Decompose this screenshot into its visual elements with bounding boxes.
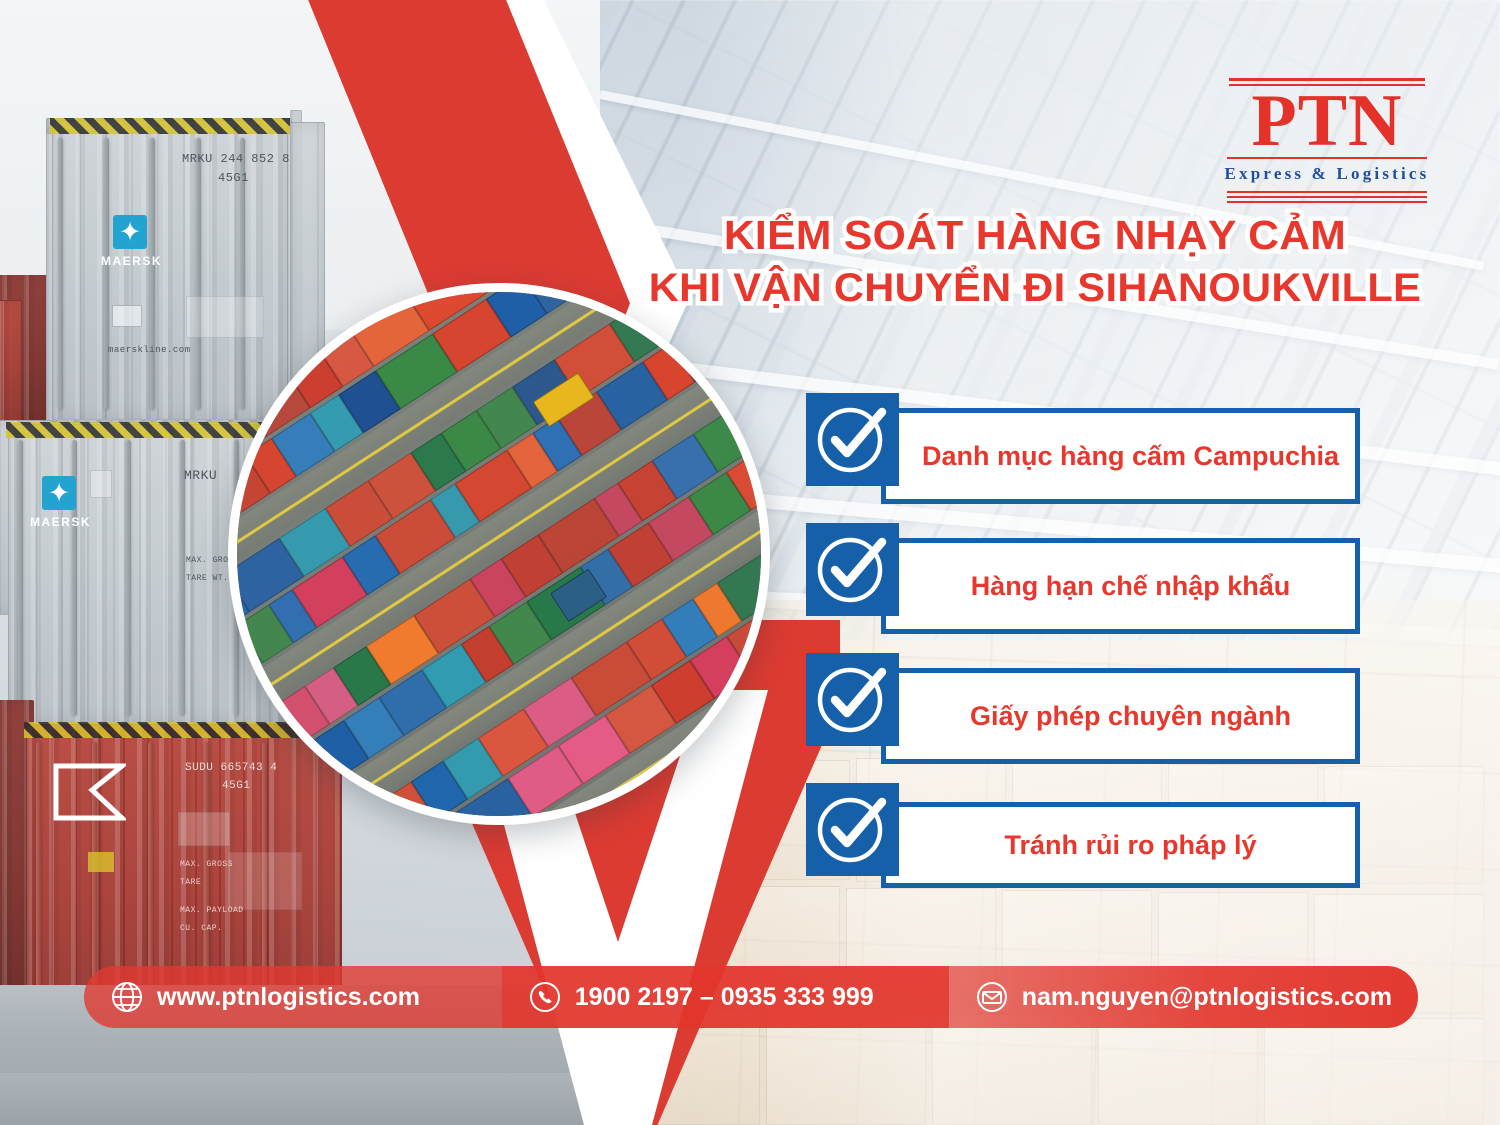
checklist-label-bar-2: Hàng hạn chế nhập khẩu [881,538,1360,634]
container-code-2: MRKU [184,468,217,483]
checklist-label-bar-1: Danh mục hàng cấm Campuchia [881,408,1360,504]
container-spec-3d: CU. CAP. [180,924,222,933]
checklist-label-1: Danh mục hàng cấm Campuchia [922,440,1339,472]
logo-tagline: Express & Logistics [1222,163,1432,186]
logo-wordmark: PTN [1222,86,1432,157]
phone-circle-icon [528,980,562,1014]
check-circle-icon [806,783,899,876]
contact-email[interactable]: nam.nguyen@ptnlogistics.com [949,966,1418,1028]
check-circle-icon [806,393,899,486]
title-line-2: KHI VẬN CHUYỂN ĐI SIHANOUKVILLE [603,262,1466,315]
checklist-label-3: Giấy phép chuyên ngành [970,700,1291,732]
container-spec-3a: MAX. GROSS [180,860,233,869]
email-text: nam.nguyen@ptnlogistics.com [1022,983,1392,1012]
contact-website[interactable]: www.ptnlogistics.com [84,966,502,1028]
container-brand-2: MAERSK [30,515,91,529]
container-spec-3b: TARE [180,878,201,887]
globe-icon [110,980,144,1014]
logo-rule-bottom-2 [1227,196,1427,198]
brand-logo[interactable]: PTN Express & Logistics [1222,78,1432,203]
checklist-label-bar-4: Tránh rủi ro pháp lý [881,802,1360,888]
website-text: www.ptnlogistics.com [157,983,420,1012]
aerial-container-yard-photo [237,292,761,816]
contact-bar: www.ptnlogistics.com 1900 2197 – 0935 33… [84,966,1418,1028]
checklist-item-4[interactable]: Tránh rủi ro pháp lý [806,783,1346,898]
feature-checklist: Danh mục hàng cấm Campuchia Hàng hạn chế… [806,393,1346,913]
container-spec-2b: TARE WT. [186,574,228,583]
maersk-star-icon-2 [42,476,76,510]
envelope-circle-icon [975,980,1009,1014]
checklist-label-2: Hàng hạn chế nhập khẩu [971,570,1291,602]
checklist-label-4: Tránh rủi ro pháp lý [1004,829,1256,861]
maersk-star-icon [113,215,147,249]
circle-photo-frame [228,283,770,825]
check-circle-icon [806,653,899,746]
container-code-1: MRKU 244 852 8 [182,152,290,166]
checklist-item-3[interactable]: Giấy phép chuyên ngành [806,653,1346,768]
phone-text: 1900 2197 – 0935 333 999 [575,983,874,1012]
logo-rule-bottom-3 [1227,201,1427,203]
contact-phone[interactable]: 1900 2197 – 0935 333 999 [502,966,949,1028]
logo-rule-bottom-1 [1227,191,1427,193]
check-circle-icon [806,523,899,616]
poster-title: KIỂM SOÁT HÀNG NHẠY CẢM KHI VẬN CHUYỂN Đ… [620,208,1450,315]
container-brand-1: MAERSK [101,254,162,268]
checklist-item-1[interactable]: Danh mục hàng cấm Campuchia [806,393,1346,508]
shipping-line-flag-icon [52,760,126,822]
container-type-1: 45G1 [218,171,249,185]
poster-canvas: MRKU 244 852 8 45G1 MAERSK maerskline.co… [0,0,1500,1125]
checklist-item-2[interactable]: Hàng hạn chế nhập khẩu [806,523,1346,638]
checklist-label-bar-3: Giấy phép chuyên ngành [881,668,1360,764]
title-line-1: KIỂM SOÁT HÀNG NHẠY CẢM [603,208,1466,262]
container-site-1: maerskline.com [108,345,191,355]
